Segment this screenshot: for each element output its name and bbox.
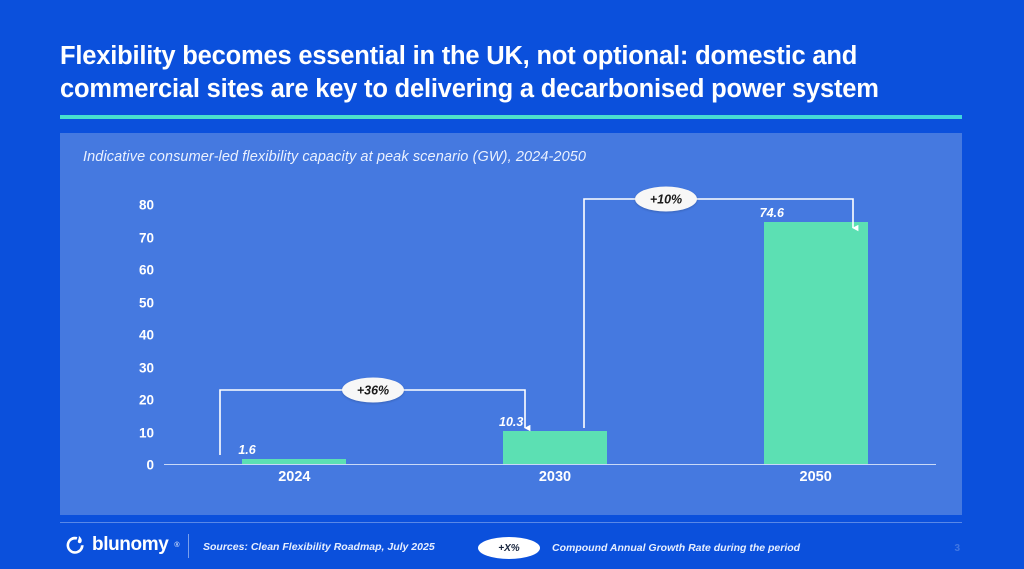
x-axis-tick-2024: 2024	[278, 469, 310, 485]
title-block: Flexibility becomes essential in the UK,…	[60, 40, 960, 106]
brand-logo-text: blunomy	[92, 534, 168, 556]
cagr-badge-2024-2030[interactable]: +36%	[342, 378, 404, 403]
bar-2024[interactable]	[242, 459, 346, 464]
y-axis-tick: 30	[108, 360, 154, 375]
x-axis-baseline	[164, 464, 936, 465]
plot-area: 01020304050607080 1.610.374.6	[108, 203, 946, 465]
footer-vertical-divider	[188, 534, 189, 558]
y-axis-tick: 20	[108, 393, 154, 408]
y-axis-tick: 10	[108, 425, 154, 440]
y-axis-tick: 40	[108, 328, 154, 343]
y-axis: 01020304050607080	[108, 203, 154, 465]
y-axis-tick: 70	[108, 230, 154, 245]
footer: blunomy ® Sources: Clean Flexibility Roa…	[60, 522, 962, 568]
bar-value-2024: 1.6	[238, 443, 255, 457]
legend-cagr-badge: +X%	[478, 537, 540, 559]
chart-panel: Indicative consumer-led flexibility capa…	[60, 133, 962, 515]
x-axis-tick-2050: 2050	[800, 469, 832, 485]
bar-value-2030: 10.3	[499, 415, 523, 429]
y-axis-tick: 0	[108, 458, 154, 473]
page-number: 3	[954, 543, 960, 554]
x-axis-labels: 202420302050	[164, 469, 946, 491]
y-axis-tick: 50	[108, 295, 154, 310]
y-axis-tick: 60	[108, 263, 154, 278]
cagr-badge-2030-2050[interactable]: +10%	[635, 187, 697, 212]
y-axis-tick: 80	[108, 198, 154, 213]
bar-2050[interactable]	[764, 222, 868, 464]
chart-subtitle: Indicative consumer-led flexibility capa…	[83, 149, 586, 165]
source-note: Sources: Clean Flexibility Roadmap, July…	[203, 541, 435, 553]
bar-value-2050: 74.6	[760, 206, 784, 220]
bar-2030[interactable]	[503, 431, 607, 464]
x-axis-tick-2030: 2030	[539, 469, 571, 485]
axis-area: 1.610.374.6	[164, 203, 946, 465]
legend-cagr-text: Compound Annual Growth Rate during the p…	[552, 542, 800, 554]
brand-logo[interactable]: blunomy ®	[64, 534, 180, 556]
title-accent-rule	[60, 115, 962, 119]
brand-registered-mark: ®	[174, 542, 179, 549]
blunomy-flame-icon	[64, 534, 86, 556]
page-title: Flexibility becomes essential in the UK,…	[60, 40, 960, 106]
footer-divider-rule	[60, 522, 962, 523]
